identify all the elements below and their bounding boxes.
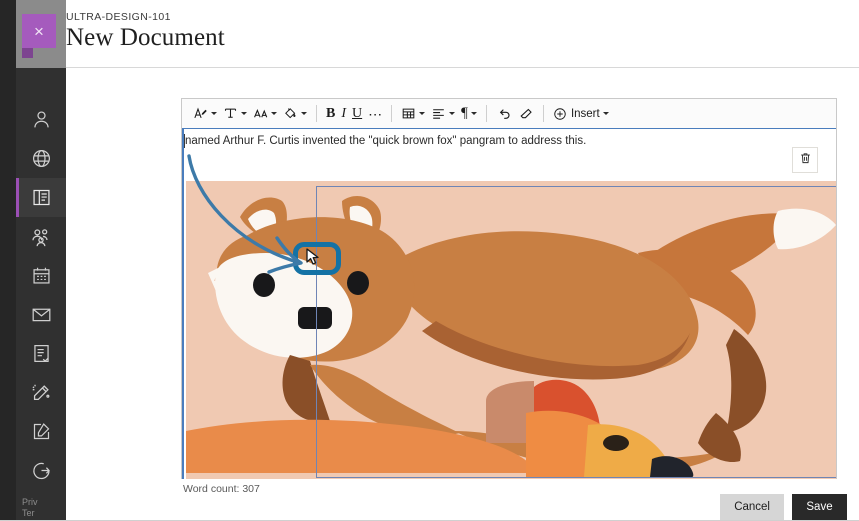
document-paragraph: named Arthur F. Curtis invented the "qui… xyxy=(185,135,586,147)
cancel-button[interactable]: Cancel xyxy=(720,494,784,520)
sidebar-item-assignments[interactable] xyxy=(16,412,66,451)
sidebar-item-organizations[interactable] xyxy=(16,217,66,256)
editor-body[interactable]: named Arthur F. Curtis invented the "qui… xyxy=(182,129,836,479)
insert-label: Insert xyxy=(571,108,600,120)
bold-button[interactable]: B xyxy=(323,103,338,125)
bold-icon: B xyxy=(326,106,335,122)
close-button-fold xyxy=(22,48,33,58)
eraser-icon xyxy=(518,106,534,122)
font-family-icon xyxy=(223,106,238,121)
ellipsis-icon: ⋯ xyxy=(368,110,382,118)
italic-button[interactable]: I xyxy=(338,103,349,125)
word-count: Word count: 307 xyxy=(183,483,260,495)
font-family-button[interactable] xyxy=(220,103,250,125)
sidebar-item-messages[interactable] xyxy=(16,295,66,334)
people-icon xyxy=(30,226,52,248)
chevron-down-icon xyxy=(603,112,609,115)
toolbar-divider xyxy=(543,105,544,122)
sidebar-footer: Priv Ter xyxy=(16,497,66,521)
toolbar-divider xyxy=(486,105,487,122)
mouse-cursor-icon xyxy=(306,248,322,266)
editor-toolbar: B I U ⋯ xyxy=(182,99,836,129)
privacy-link[interactable]: Priv xyxy=(22,497,66,508)
sidebar-item-profile[interactable] xyxy=(16,100,66,139)
chevron-down-icon xyxy=(471,112,477,115)
font-size-icon xyxy=(253,106,268,121)
sidebar-item-grades[interactable] xyxy=(16,334,66,373)
document-icon xyxy=(31,343,52,364)
chevron-down-icon xyxy=(419,112,425,115)
paragraph-icon: ¶ xyxy=(461,105,468,122)
plus-circle-icon xyxy=(553,107,567,121)
fox-illustration xyxy=(186,181,836,479)
sidebar-item-calendar[interactable] xyxy=(16,256,66,295)
sidebar-nav xyxy=(16,100,66,490)
italic-icon: I xyxy=(341,106,346,122)
save-button[interactable]: Save xyxy=(792,494,847,520)
rich-text-editor: B I U ⋯ xyxy=(181,98,837,479)
chevron-down-icon xyxy=(241,112,247,115)
align-left-icon xyxy=(431,106,446,121)
footer-actions: Cancel Save xyxy=(720,494,847,520)
page-header: ULTRA-DESIGN-101 New Document xyxy=(66,0,859,68)
close-icon: × xyxy=(22,14,56,48)
calendar-icon xyxy=(31,265,52,286)
chevron-down-icon xyxy=(449,112,455,115)
toolbar-divider xyxy=(316,105,317,122)
editor-scrollbar[interactable] xyxy=(825,181,833,479)
close-button[interactable]: × xyxy=(22,14,56,48)
sidebar-item-tools[interactable] xyxy=(16,373,66,412)
paint-bucket-icon xyxy=(283,106,298,121)
underline-button[interactable]: U xyxy=(349,103,365,125)
more-formatting-button[interactable]: ⋯ xyxy=(365,103,385,125)
align-button[interactable] xyxy=(428,103,458,125)
globe-icon xyxy=(31,148,52,169)
edit-icon xyxy=(31,421,52,442)
font-size-button[interactable] xyxy=(250,103,280,125)
text-style-button[interactable] xyxy=(190,103,220,125)
inserted-image[interactable] xyxy=(186,181,836,479)
underline-icon: U xyxy=(352,106,362,122)
breadcrumb-course-code: ULTRA-DESIGN-101 xyxy=(66,11,171,23)
sidebar-item-sign-out[interactable] xyxy=(16,451,66,490)
text-style-icon xyxy=(193,106,208,121)
person-icon xyxy=(31,109,52,130)
delete-image-button[interactable] xyxy=(792,147,818,173)
undo-icon xyxy=(496,106,512,122)
toolbar-divider xyxy=(391,105,392,122)
undo-button[interactable] xyxy=(493,103,515,125)
table-icon xyxy=(401,106,416,121)
insert-button[interactable]: Insert xyxy=(550,103,612,125)
chevron-down-icon xyxy=(301,112,307,115)
chevron-down-icon xyxy=(271,112,277,115)
app-rail-edge xyxy=(0,0,16,521)
highlight-color-button[interactable] xyxy=(280,103,310,125)
chevron-down-icon xyxy=(211,112,217,115)
paragraph-button[interactable]: ¶ xyxy=(458,103,480,125)
clear-formatting-button[interactable] xyxy=(515,103,537,125)
table-button[interactable] xyxy=(398,103,428,125)
terms-link[interactable]: Ter xyxy=(22,508,66,519)
signout-icon xyxy=(31,460,52,481)
book-icon xyxy=(31,187,52,208)
app-root: × xyxy=(0,0,859,521)
sidebar-item-institution[interactable] xyxy=(16,139,66,178)
page-title: New Document xyxy=(66,24,225,52)
mail-icon xyxy=(31,304,52,325)
trash-icon xyxy=(799,151,812,170)
tools-icon xyxy=(30,382,52,404)
sidebar-item-courses[interactable] xyxy=(16,178,66,217)
